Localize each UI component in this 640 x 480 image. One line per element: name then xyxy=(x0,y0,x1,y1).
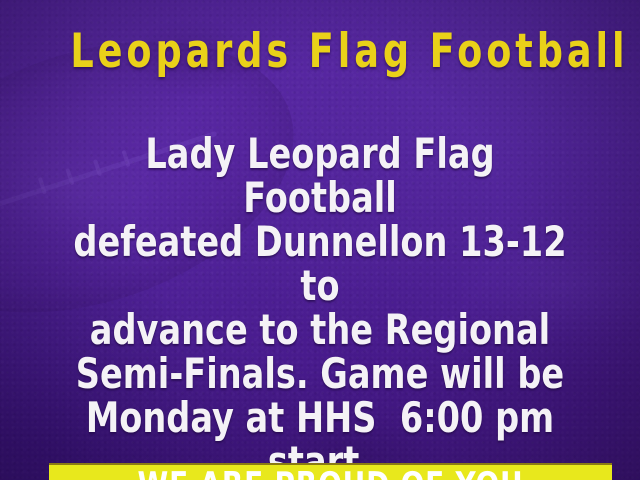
page-title: Leopards Flag Football xyxy=(70,26,569,78)
announcement-body-text: Lady Leopard Flag Football defeated Dunn… xyxy=(70,132,569,480)
proud-banner: WE ARE PROUD OF YOU xyxy=(49,463,612,480)
flag-football-announcement-poster: Leopards Flag Football Lady Leopard Flag… xyxy=(0,0,640,480)
proud-banner-label: WE ARE PROUD OF YOU xyxy=(100,468,562,480)
